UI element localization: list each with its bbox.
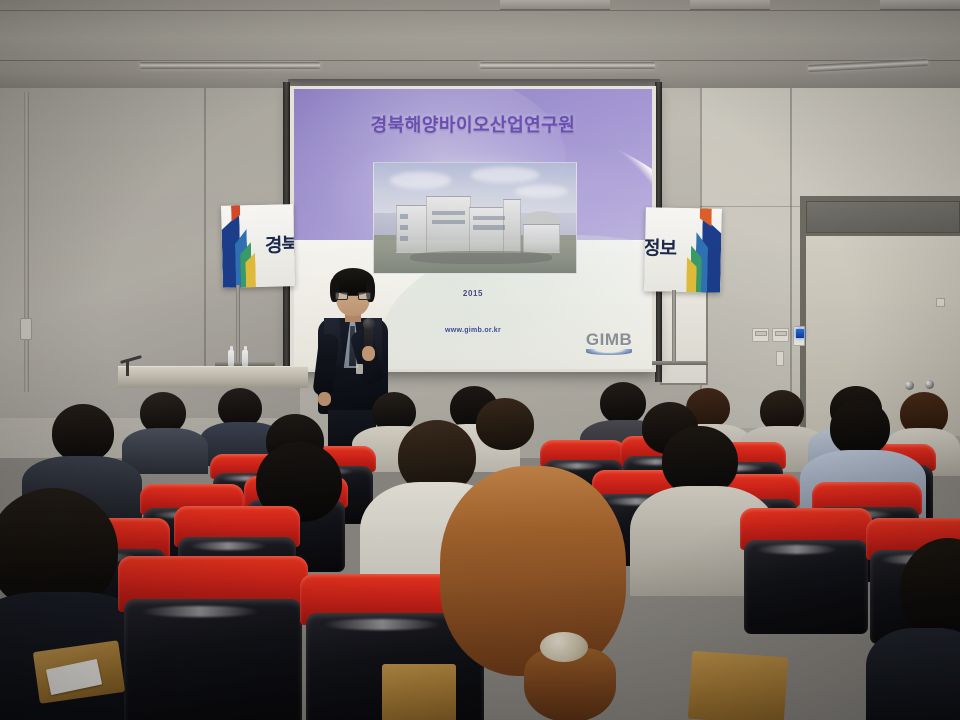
light-switch-rocker[interactable] — [755, 331, 767, 336]
banner-right-graphic — [684, 208, 722, 293]
banner-left-graphic — [221, 205, 257, 288]
photo-window-band — [432, 211, 464, 215]
gimb-swoosh-icon — [586, 349, 632, 355]
ceiling-panel — [500, 0, 610, 10]
auditorium-seat[interactable] — [740, 508, 872, 632]
photo-building-main — [426, 196, 470, 253]
photo-road — [410, 251, 551, 264]
light-switch-plate[interactable] — [752, 328, 769, 342]
access-control-panel[interactable] — [793, 326, 805, 346]
photo-building-annex — [523, 224, 559, 253]
seat-highlight — [323, 619, 441, 630]
audience-person-foreground — [866, 628, 960, 720]
light-switch-plate[interactable] — [772, 328, 789, 342]
wall-seam — [700, 206, 800, 207]
slide-title: 경북해양바이오산업연구원 — [294, 111, 652, 137]
water-bottle[interactable] — [228, 350, 234, 366]
banner-left-text: 경북 — [265, 230, 295, 258]
door-transom-window — [806, 201, 960, 233]
banner-right-base — [652, 361, 708, 365]
presenter-name-badge — [356, 364, 363, 374]
wall-seam — [790, 88, 792, 418]
audience-person — [122, 428, 208, 474]
tablet-arm-desk[interactable] — [382, 664, 456, 720]
conduit-junction-box — [20, 318, 32, 340]
light-switch-rocker[interactable] — [775, 331, 787, 336]
wall-sensor-box — [776, 351, 784, 366]
gimb-logo-text: GIMB — [586, 331, 632, 348]
glasses-lens — [335, 292, 348, 300]
presenter-glasses-icon — [335, 292, 371, 300]
ceiling-light-fixture — [140, 62, 320, 69]
tablet-arm-desk[interactable] — [688, 651, 789, 720]
water-bottle[interactable] — [242, 350, 248, 366]
banner-right: 정보 — [644, 207, 722, 293]
audience-head — [830, 400, 890, 456]
whiteboard — [660, 290, 708, 385]
photo-window-band — [473, 225, 505, 229]
auditorium-seat-foreground[interactable] — [118, 556, 308, 720]
presenter-hand-holding-mic — [362, 346, 375, 361]
wall-conduit — [24, 92, 29, 392]
seat-highlight — [756, 545, 838, 554]
audience-head — [476, 398, 534, 450]
hair-scrunchie — [540, 632, 588, 662]
photo-window — [400, 214, 408, 218]
audience-head — [52, 404, 114, 462]
presentation-photo-scene: 경북해양바이오산업연구원 2015 www.gimb.or.kr GI — [0, 0, 960, 720]
banner-left-pole — [236, 285, 240, 363]
photo-window-band — [432, 220, 464, 224]
ceiling-light-fixture — [480, 62, 655, 69]
microphone-head-icon — [363, 318, 375, 330]
wall-seam — [204, 88, 206, 388]
banner-left: 경북 — [221, 204, 295, 288]
seat-back — [744, 540, 868, 634]
seat-back — [124, 599, 303, 720]
photo-cloud — [471, 167, 540, 182]
glasses-bridge — [348, 295, 358, 296]
audience-head — [600, 382, 646, 424]
audience-head-ponytail — [440, 466, 626, 676]
gimb-logo: GIMB — [586, 331, 632, 355]
ceiling-seam — [0, 10, 960, 11]
slide-building-photo — [373, 162, 577, 274]
wall-outlet[interactable] — [936, 298, 945, 307]
photo-window-band — [473, 216, 505, 220]
audience-area — [0, 378, 960, 720]
access-panel-led-icon — [796, 329, 804, 338]
photo-window — [400, 236, 408, 240]
glasses-lens — [358, 292, 371, 300]
photo-cloud — [515, 185, 568, 198]
banner-right-text: 정보 — [644, 233, 676, 261]
ceiling-panel — [880, 0, 960, 10]
banner-right-pole — [672, 290, 676, 362]
photo-cloud — [390, 172, 451, 190]
photo-window — [400, 225, 408, 229]
microphone-stand — [126, 360, 129, 376]
ceiling-panel — [690, 0, 770, 10]
photo-building-tower — [503, 199, 521, 253]
ceiling-seam — [0, 60, 960, 61]
